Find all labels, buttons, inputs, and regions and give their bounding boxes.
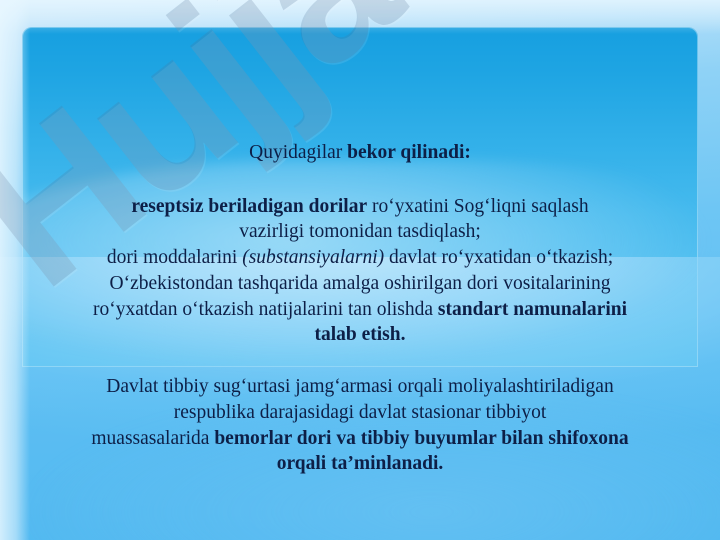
p1-line-3-a: dori moddalarini [107, 247, 242, 268]
p1-line-3: dori moddalarini (substansiyalarni) davl… [14, 245, 706, 271]
p2-line-2: respublika darajasidagi davlat stasionar… [14, 400, 706, 426]
p1-line-1-bold: reseptsiz beriladigan dorilar [131, 196, 367, 217]
heading-bold: bekor qilinadi: [347, 142, 471, 163]
heading-plain: Quyidagilar [249, 142, 347, 163]
presentation-slide: Hujjat24 Quyidagilar bekor qilinadi: res… [0, 0, 720, 540]
p1-line-5-bold: standart namunalarini [438, 299, 627, 320]
p1-line-6: talab etish. [14, 322, 706, 348]
p1-line-3-b: davlat ro‘yxatidan o‘tkazish; [384, 247, 613, 268]
paragraph-spacer-1 [14, 166, 706, 194]
p2-line-4-bold: orqali ta’minlanadi. [277, 453, 444, 474]
p1-line-5: ro‘yxatdan o‘tkazish natijalarini tan ol… [14, 297, 706, 323]
p2-line-1: Davlat tibbiy sug‘urtasi jamg‘armasi orq… [14, 374, 706, 400]
p1-line-1: reseptsiz beriladigan dorilar ro‘yxatini… [14, 194, 706, 220]
p1-line-3-italic: (substansiyalarni) [242, 247, 384, 268]
slide-text-body: Quyidagilar bekor qilinadi: reseptsiz be… [0, 140, 720, 477]
p1-line-2: vazirligi tomonidan tasdiqlash; [14, 219, 706, 245]
heading-line: Quyidagilar bekor qilinadi: [14, 140, 706, 166]
paragraph-2: Davlat tibbiy sug‘urtasi jamg‘armasi orq… [14, 374, 706, 477]
p2-line-3-bold: bemorlar dori va tibbiy buyumlar bilan s… [214, 428, 628, 449]
p2-line-3-a: muassasalarida [91, 428, 214, 449]
p2-line-4: orqali ta’minlanadi. [14, 451, 706, 477]
p2-line-3: muassasalarida bemorlar dori va tibbiy b… [14, 426, 706, 452]
p1-line-6-bold: talab etish. [314, 324, 405, 345]
p1-line-1-rest: ro‘yxatini Sog‘liqni saqlash [367, 196, 589, 217]
paragraph-spacer-2 [14, 348, 706, 374]
watermark-number: 24 [342, 0, 645, 9]
p1-line-5-a: ro‘yxatdan o‘tkazish natijalarini tan ol… [93, 299, 438, 320]
paragraph-1: reseptsiz beriladigan dorilar ro‘yxatini… [14, 194, 706, 348]
p1-line-4: O‘zbekistondan tashqarida amalga oshiril… [14, 271, 706, 297]
